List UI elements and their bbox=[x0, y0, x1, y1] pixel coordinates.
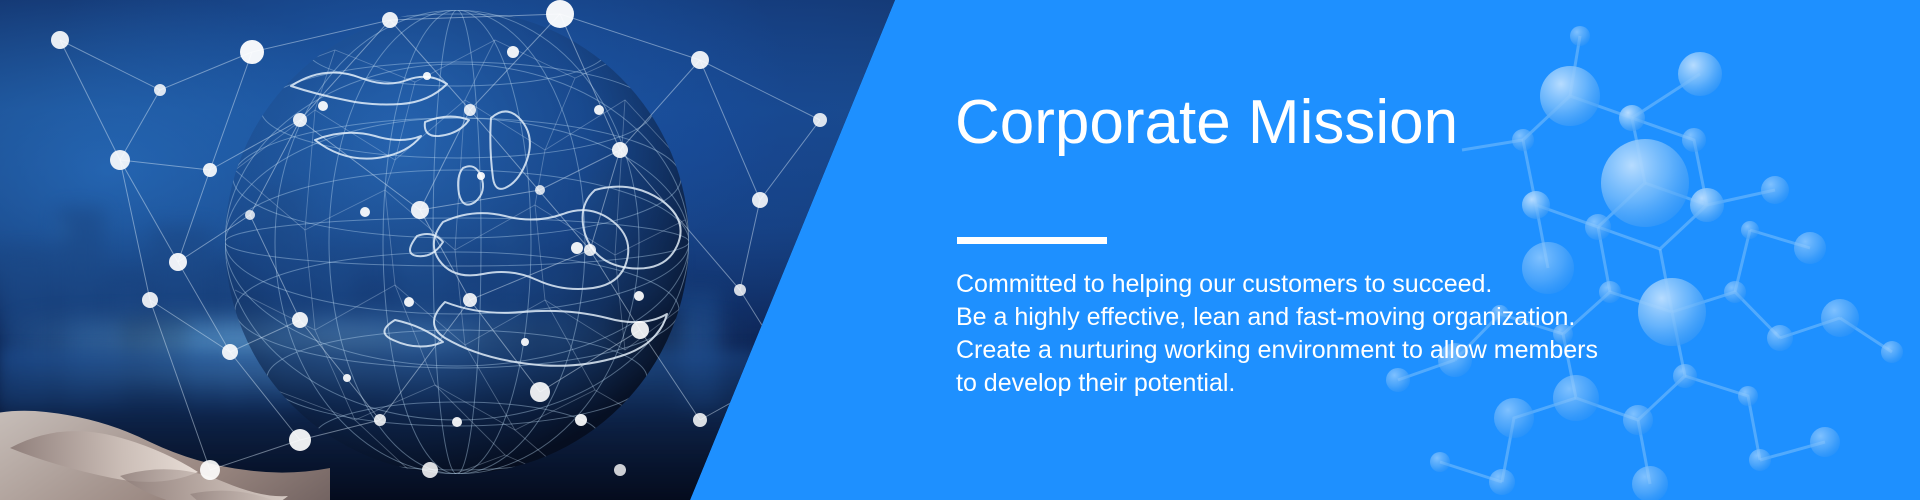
mission-line: to develop their potential. bbox=[956, 367, 1756, 400]
mission-line: Be a highly effective, lean and fast-mov… bbox=[956, 301, 1756, 334]
corporate-mission-banner: Corporate Mission Committed to helping o… bbox=[0, 0, 1920, 500]
mission-line: Create a nurturing working environment t… bbox=[956, 334, 1756, 367]
mission-statement: Committed to helping our customers to su… bbox=[956, 268, 1756, 400]
mission-content: Corporate Mission Committed to helping o… bbox=[955, 0, 1855, 500]
title-underline-rule bbox=[957, 237, 1107, 244]
mission-line: Committed to helping our customers to su… bbox=[956, 268, 1756, 301]
page-title: Corporate Mission bbox=[955, 92, 1458, 154]
